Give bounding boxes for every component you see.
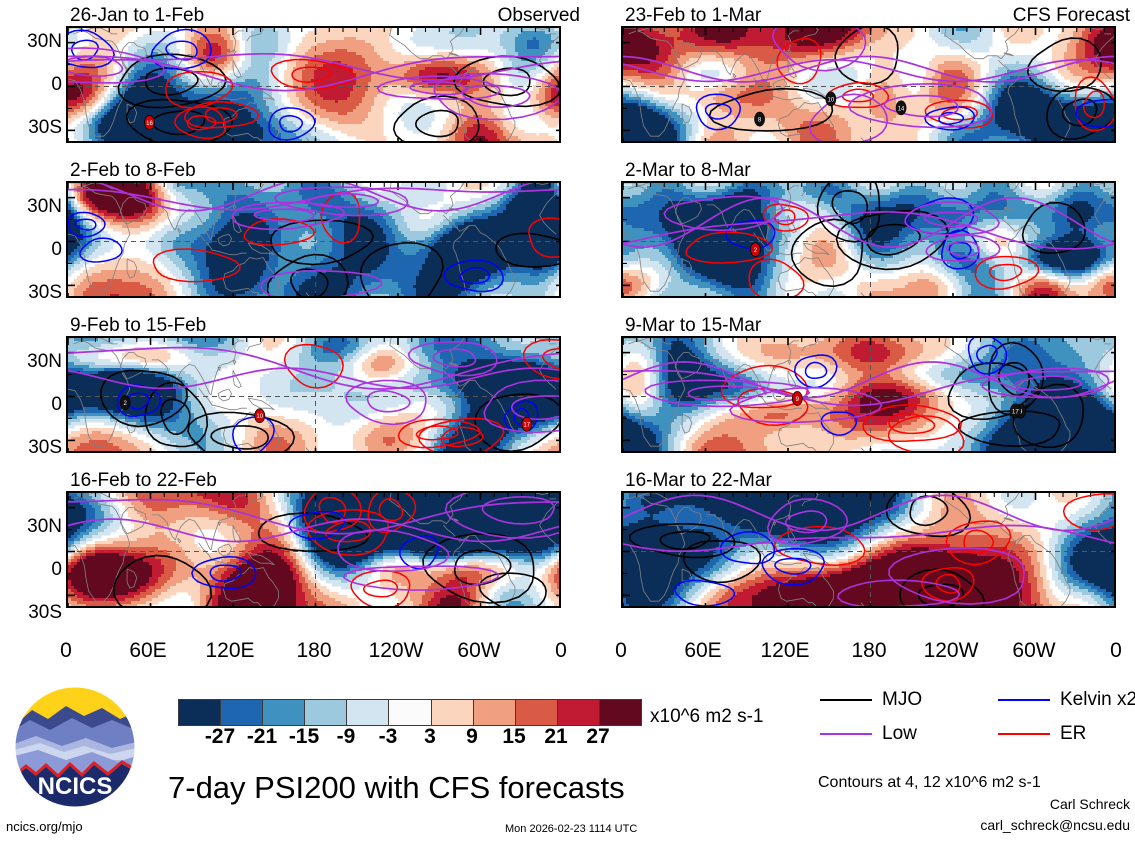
panel-title-obs-2: 2-Feb to 8-Feb: [70, 161, 196, 180]
legend-label: Low: [882, 724, 917, 743]
colorbar-segment-0: [179, 700, 221, 725]
map-canvas-obs-4: [68, 493, 561, 608]
colorbar-segment-1: [221, 700, 263, 725]
colorbar-segment-8: [516, 700, 558, 725]
shaded-anomaly-layer: [623, 28, 1116, 143]
panel-title-obs-3: 9-Feb to 15-Feb: [70, 316, 206, 335]
map-panel-obs-2[interactable]: [66, 181, 561, 298]
column-header-observed: Observed: [480, 6, 580, 25]
map-canvas-cfs-4: [623, 493, 1116, 608]
map-canvas-cfs-2: 2: [623, 183, 1116, 298]
map-panel-cfs-1[interactable]: 10148: [621, 26, 1116, 143]
xlabel-120w-left: 120W: [366, 640, 426, 661]
legend-entry-kelvin-x2: Kelvin x2: [998, 690, 1135, 709]
map-canvas-cfs-3: 9179: [623, 338, 1116, 453]
figure-root: Observed CFS Forecast 26-Jan to 1-Feb 2-…: [0, 0, 1135, 844]
author-email[interactable]: carl_schreck@ncsu.edu: [860, 818, 1130, 832]
ylabel-30s-r3: 30S: [0, 438, 62, 457]
map-canvas-obs-1: 16: [68, 28, 561, 143]
colorbar-segment-5: [389, 700, 431, 725]
colorbar-segment-10: [600, 700, 641, 725]
legend-label: ER: [1060, 724, 1086, 743]
xlabel-60w-left: 60W: [449, 640, 509, 661]
colorbar-tick-27: 27: [568, 726, 628, 747]
xlabel-120e-left: 120E: [200, 640, 260, 661]
legend-entry-mjo: MJO: [820, 690, 922, 709]
site-link[interactable]: ncics.org/mjo: [6, 820, 83, 833]
colorbar-segment-6: [432, 700, 474, 725]
xlabel-60e-left: 60E: [118, 640, 178, 661]
panel-title-obs-4: 16-Feb to 22-Feb: [70, 471, 217, 490]
ylabel-30s-r4: 30S: [0, 603, 62, 622]
map-panel-obs-3[interactable]: 10217: [66, 336, 561, 453]
panel-title-cfs-2: 2-Mar to 8-Mar: [625, 161, 751, 180]
legend-label: MJO: [882, 690, 922, 709]
xlabel-60w-right: 60W: [1004, 640, 1064, 661]
xlabel-120w-right: 120W: [921, 640, 981, 661]
map-canvas-cfs-1: 10148: [623, 28, 1116, 143]
legend-swatch-line: [820, 733, 872, 735]
xlabel-180-right: 180: [839, 640, 899, 661]
ylabel-30s-r1: 30S: [0, 118, 62, 137]
xlabel-0-left: 0: [36, 640, 96, 661]
map-canvas-obs-3: 10217: [68, 338, 561, 453]
colorbar-segment-2: [263, 700, 305, 725]
xlabel-120e-right: 120E: [755, 640, 815, 661]
panel-title-cfs-1: 23-Feb to 1-Mar: [625, 6, 761, 25]
ncics-logo: NCICS: [14, 686, 136, 808]
ylabel-30n-r2: 30N: [0, 197, 62, 216]
ncics-logo-svg: NCICS: [14, 686, 136, 808]
colorbar: [178, 699, 642, 726]
ylabel-30n-r3: 30N: [0, 352, 62, 371]
column-header-cfs: CFS Forecast: [1000, 6, 1130, 25]
panel-title-obs-1: 26-Jan to 1-Feb: [70, 6, 204, 25]
legend-swatch-line: [998, 699, 1050, 701]
xlabel-0-right-end: 0: [1086, 640, 1135, 661]
timestamp: Mon 2026-02-23 1114 UTC: [505, 824, 637, 835]
legend-entry-low: Low: [820, 724, 917, 743]
ylabel-0-r3: 0: [0, 395, 62, 414]
map-panel-cfs-3[interactable]: 9179: [621, 336, 1116, 453]
xlabel-180-left: 180: [284, 640, 344, 661]
ylabel-30s-r2: 30S: [0, 283, 62, 302]
panel-title-cfs-3: 9-Mar to 15-Mar: [625, 316, 761, 335]
tc-marker-layer: 16: [144, 115, 154, 129]
xlabel-60e-right: 60E: [673, 640, 733, 661]
ylabel-30n-r1: 30N: [0, 32, 62, 51]
xlabel-0-left-end: 0: [531, 640, 591, 661]
colorbar-segment-7: [474, 700, 516, 725]
map-panel-obs-4[interactable]: [66, 491, 561, 608]
colorbar-units-label: x10^6 m2 s-1: [650, 707, 763, 726]
legend-swatch-line: [998, 733, 1050, 735]
page-title: 7-day PSI200 with CFS forecasts: [168, 772, 625, 803]
map-canvas-obs-2: [68, 183, 561, 298]
colorbar-segment-3: [305, 700, 347, 725]
colorbar-segment-9: [558, 700, 600, 725]
ylabel-0-r4: 0: [0, 560, 62, 579]
ylabel-0-r2: 0: [0, 240, 62, 259]
colorbar-segment-4: [347, 700, 389, 725]
shaded-anomaly-layer: [68, 338, 561, 453]
ylabel-0-r1: 0: [0, 75, 62, 94]
legend-label: Kelvin x2: [1060, 690, 1135, 709]
legend-entry-er: ER: [998, 724, 1086, 743]
tc-marker-layer: 2: [750, 243, 760, 257]
author-name: Carl Schreck: [900, 797, 1130, 811]
legend-swatch-line: [820, 699, 872, 701]
ncics-logo-label: NCICS: [38, 773, 113, 800]
map-panel-cfs-2[interactable]: 2: [621, 181, 1116, 298]
map-panel-cfs-4[interactable]: [621, 491, 1116, 608]
ylabel-30n-r4: 30N: [0, 517, 62, 536]
contour-note: Contours at 4, 12 x10^6 m2 s-1: [818, 775, 1041, 791]
contour-legend: MJOKelvin x2LowER: [820, 690, 1130, 752]
panel-title-cfs-4: 16-Mar to 22-Mar: [625, 471, 772, 490]
xlabel-0-right: 0: [591, 640, 651, 661]
map-panel-obs-1[interactable]: 16: [66, 26, 561, 143]
